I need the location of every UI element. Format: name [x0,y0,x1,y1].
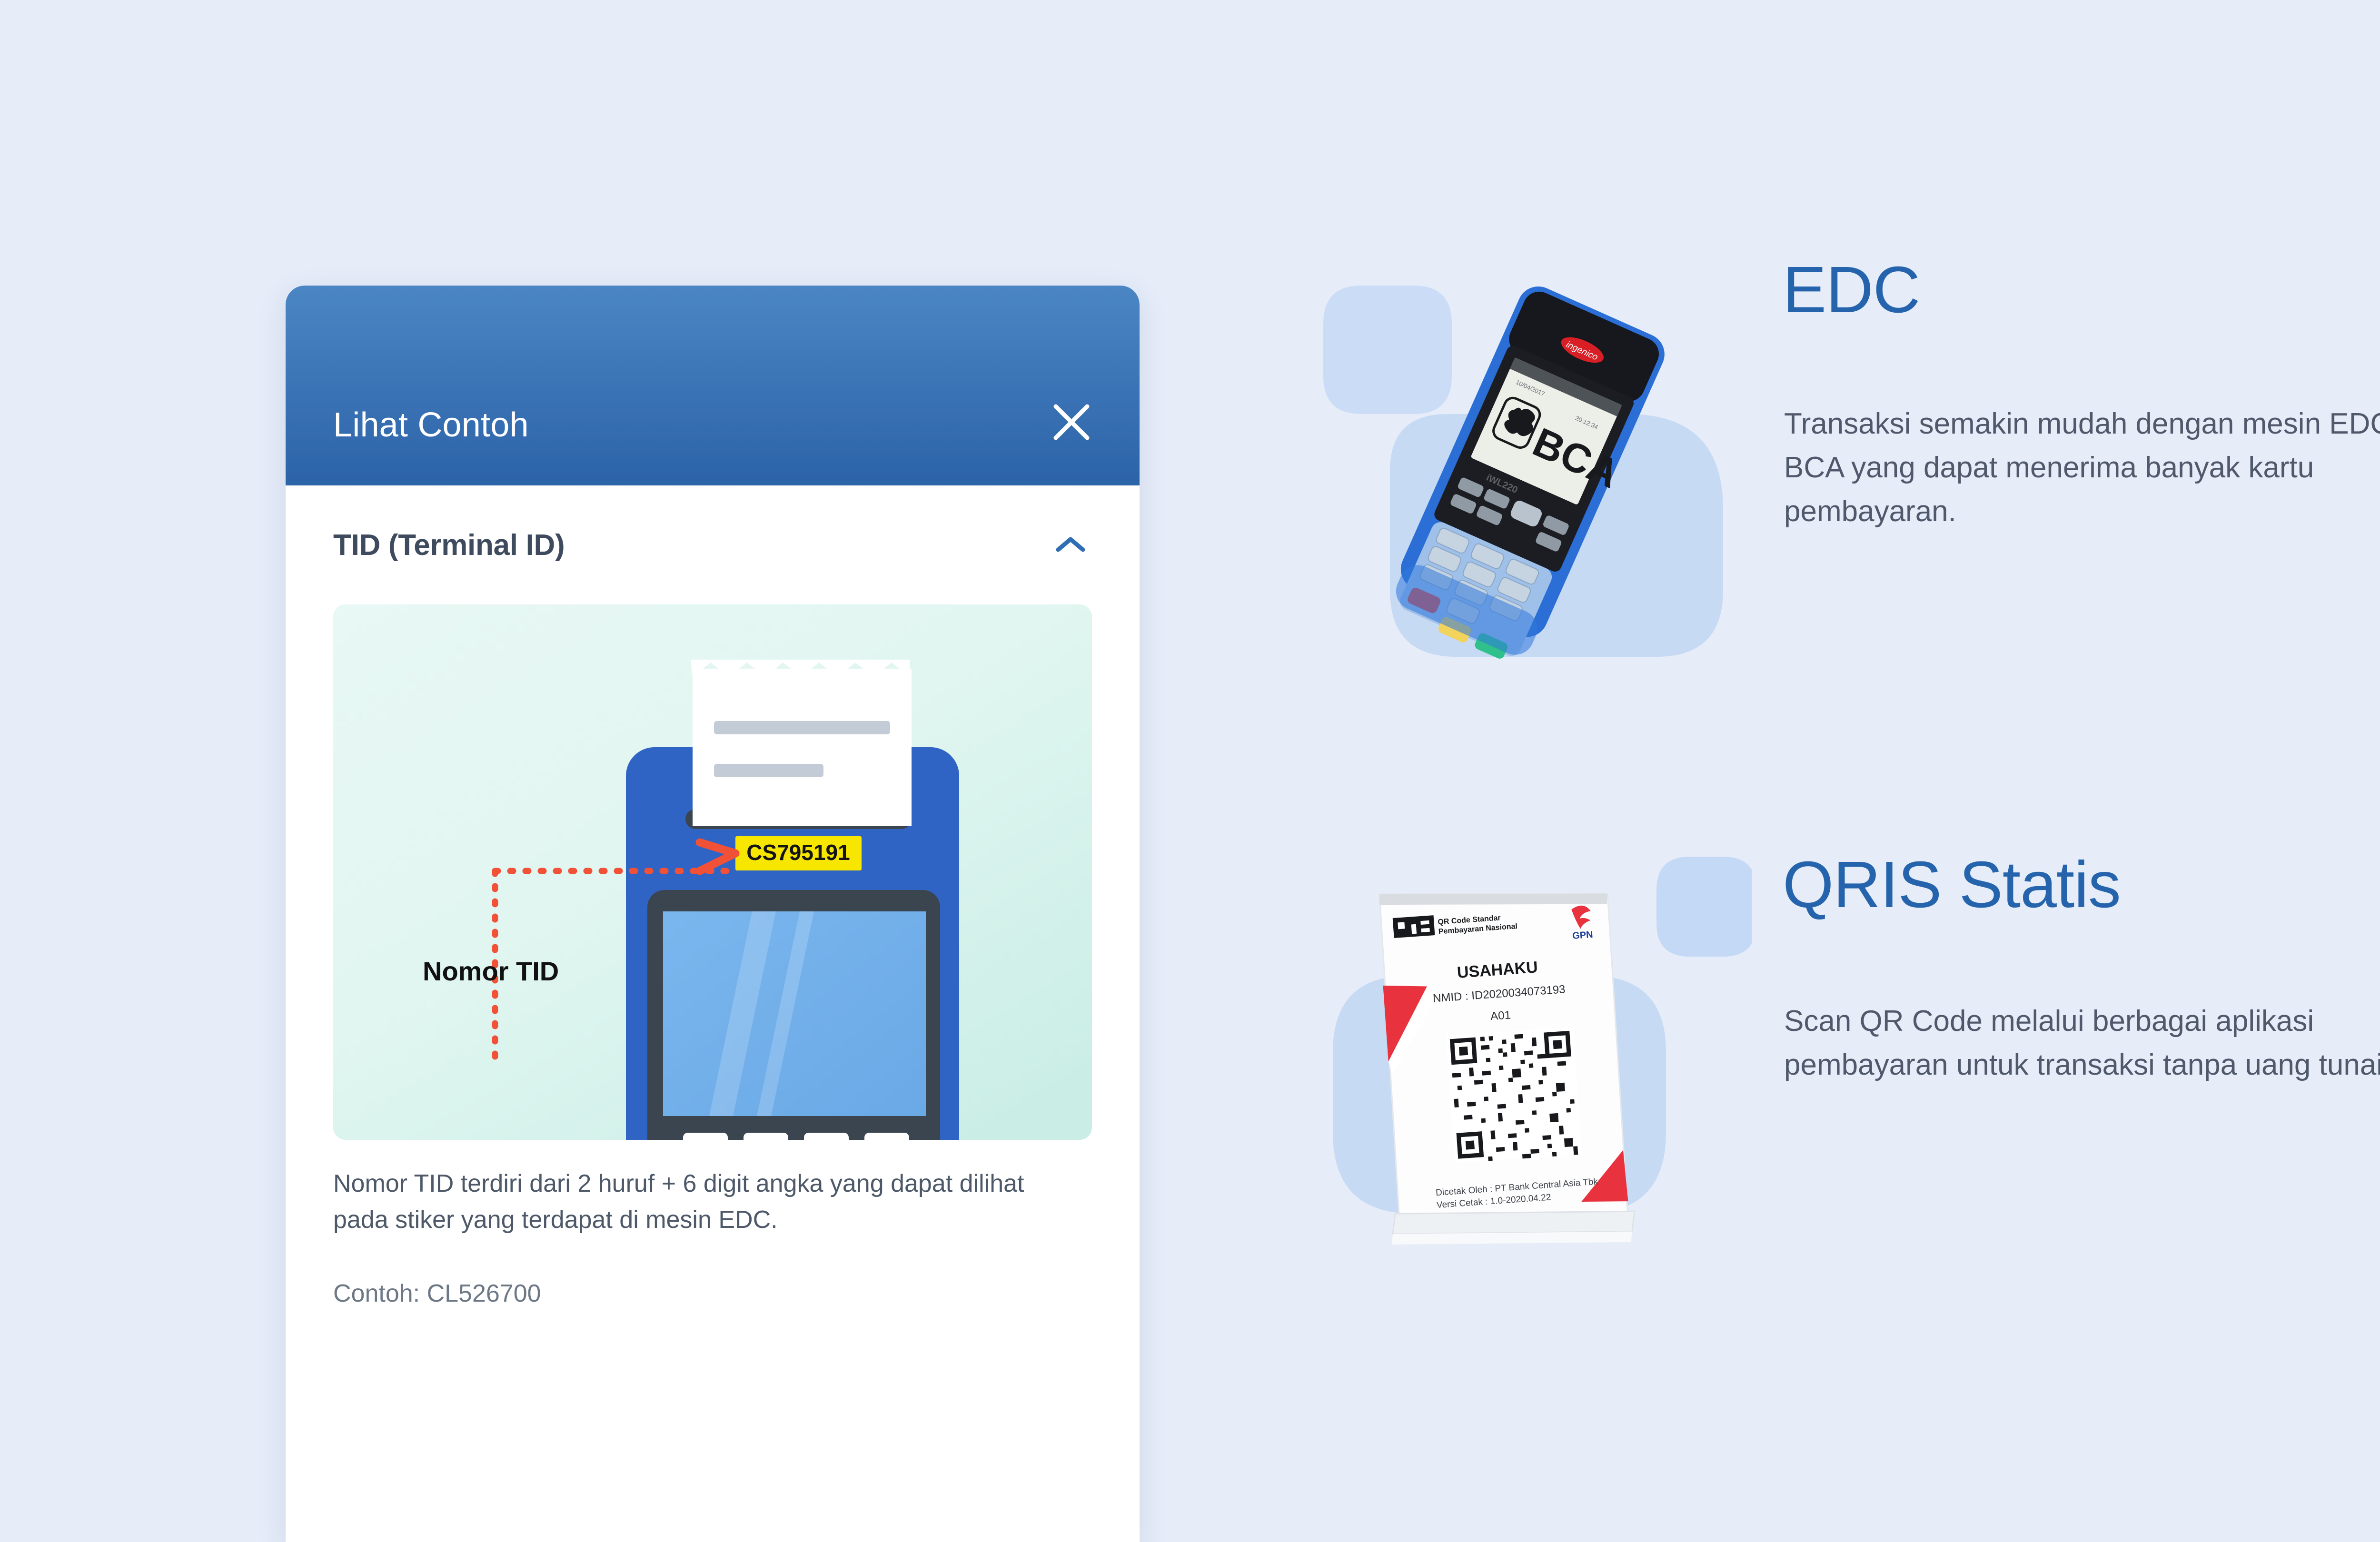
accordion-tid[interactable]: TID (Terminal ID) [286,485,1140,604]
lihat-contoh-modal: Lihat Contoh TID (Terminal ID) [286,286,1140,1542]
accordion-label: TID (Terminal ID) [333,528,565,562]
feature-title-qris: QRIS Statis [1783,847,2121,923]
close-icon[interactable] [1045,396,1098,448]
qris-standee-photo: QR Code Standar Pembayaran Nasional GPN … [1304,828,1752,1275]
tid-illustration-svg: CS795191 [333,604,1092,1140]
feature-title-edc: EDC [1783,252,1920,328]
merchant-terminal: A01 [1490,1008,1511,1023]
feature-text-edc: Transaksi semakin mudah dengan mesin EDC… [1784,402,2380,533]
decorative-blob [1656,857,1752,957]
qr-code [1446,1027,1582,1163]
callout-label: Nomor TID [423,956,559,986]
tid-sticker: CS795191 [735,836,862,870]
feature-text-qris: Scan QR Code melalui berbagai aplikasi p… [1784,999,2380,1087]
edc-terminal-photo: ingenico 10/04/2017 20:12:34 BCA [1304,267,1752,666]
decorative-blob [1323,286,1452,414]
svg-text:CS795191: CS795191 [746,840,850,865]
tid-example: Contoh: CL526700 [333,1279,1092,1308]
qris-acrylic-stand: QR Code Standar Pembayaran Nasional GPN … [1367,878,1636,1259]
receipt-illustration [691,660,912,826]
edc-screen [663,911,926,1116]
svg-text:GPN: GPN [1572,929,1594,941]
modal-title: Lihat Contoh [333,405,529,445]
page-root: Lihat Contoh TID (Terminal ID) [0,0,2380,1542]
tid-description: Nomor TID terdiri dari 2 huruf + 6 digit… [333,1166,1076,1238]
tid-illustration: CS795191 [333,604,1092,1140]
chevron-up-icon[interactable] [1049,531,1092,559]
modal-header: Lihat Contoh [286,286,1140,485]
